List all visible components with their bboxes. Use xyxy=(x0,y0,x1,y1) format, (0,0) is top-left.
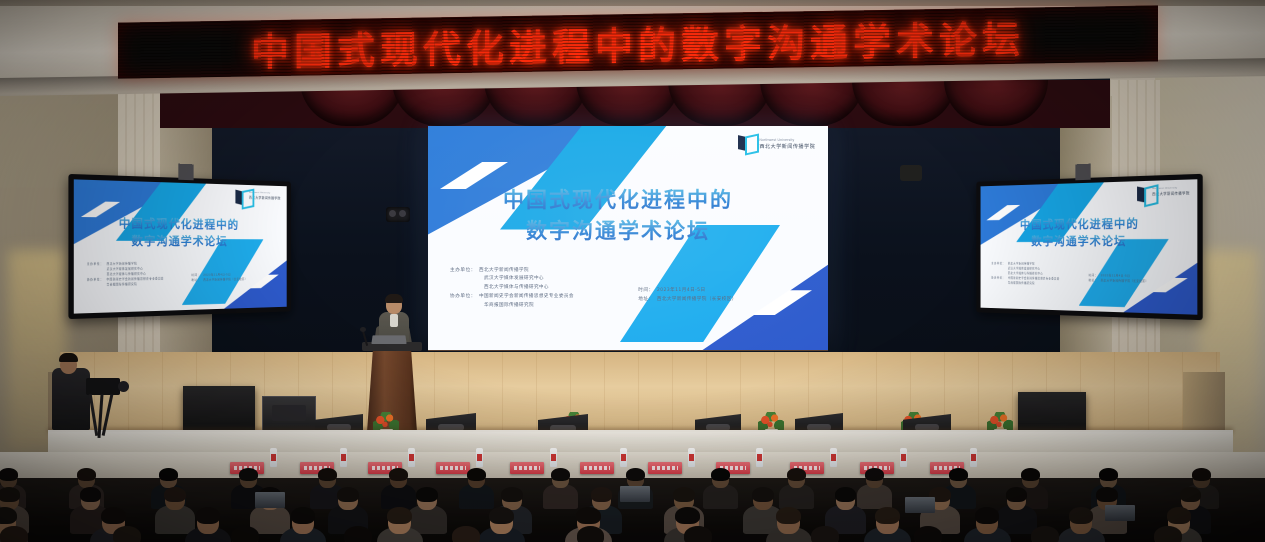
audience-member-hair xyxy=(875,507,900,524)
host-item: 武汉大学媒体发展研究中心 xyxy=(484,275,544,284)
date-value: 2023年11月4日-5日 xyxy=(657,287,706,296)
side-light-fixture xyxy=(900,165,922,181)
name-placard xyxy=(436,462,470,474)
audience-member-hair xyxy=(1021,468,1040,481)
slide-title-line1: 中国式现代化进程中的 xyxy=(981,215,1186,234)
co-host-item: 华商报国际传播研究院 xyxy=(1008,281,1035,286)
slide-title: 中国式现代化进程中的 数字沟通学术论坛 xyxy=(428,185,808,247)
host-item: 西北大学新闻传播学院 xyxy=(479,267,529,276)
place-label: 地址： xyxy=(638,296,654,305)
audience-member-hair xyxy=(787,468,806,481)
name-placard xyxy=(580,462,614,474)
audience-member-hair xyxy=(344,526,372,542)
audience-member-hair xyxy=(711,468,730,481)
audience-laptop xyxy=(1105,505,1135,521)
audience-member-hair xyxy=(1031,526,1059,542)
name-placard xyxy=(648,462,682,474)
audience-member-hair xyxy=(865,468,884,481)
audience-member-hair xyxy=(389,468,408,481)
audience-member-hair xyxy=(591,487,613,502)
audience-member-hair xyxy=(196,507,221,524)
audience-laptop xyxy=(255,492,285,508)
presentation-slide: Northwest University 西北大学新闻传播学院 中国式现代化进程… xyxy=(74,179,287,313)
audience-member-hair xyxy=(626,468,645,481)
audience-member-hair xyxy=(239,468,258,481)
place-value: 西北大学新闻传播学院（长安校区） xyxy=(203,278,247,284)
audience-member-hair xyxy=(0,507,17,524)
audience-member-hair xyxy=(577,526,605,542)
water-bottle xyxy=(408,448,415,467)
place-value: 西北大学新闻传播学院（长安校区） xyxy=(657,296,737,305)
name-placard xyxy=(510,462,544,474)
date-label: 时间： xyxy=(638,287,654,296)
audience-member-hair xyxy=(0,468,18,481)
host-item: 西北大学媒体与传播研究中心 xyxy=(484,284,549,293)
host-label: 主办单位： xyxy=(991,262,1005,267)
audience-member-hair xyxy=(673,487,695,502)
audience-member-hair xyxy=(1180,487,1202,502)
audience-member-hair xyxy=(1099,468,1118,481)
co-host-label: 协办单位： xyxy=(991,276,1005,281)
audience-member-hair xyxy=(387,507,412,524)
audience-member-hair xyxy=(752,487,774,502)
videographer-body xyxy=(52,368,90,430)
water-bottle xyxy=(620,448,627,467)
audience-member-hair xyxy=(1069,507,1094,524)
stage-amp-box xyxy=(183,386,255,434)
logo-english-name: Northwest University xyxy=(759,138,815,142)
co-host-label: 协办单位： xyxy=(87,278,104,283)
audience-member-hair xyxy=(0,526,28,542)
audience-member-hair xyxy=(811,526,839,542)
audience-laptop xyxy=(905,497,935,513)
ceiling-upper-band xyxy=(0,0,1265,6)
audience-member-hair xyxy=(1167,507,1192,524)
water-bottle xyxy=(900,448,907,467)
audience-member-hair xyxy=(1154,526,1182,542)
ceiling-speaker-icon xyxy=(386,207,410,222)
presentation-slide: Northwest University 西北大学新闻传播学院 中国式现代化进程… xyxy=(428,126,828,351)
water-bottle xyxy=(688,448,695,467)
audience-member-hair xyxy=(501,487,523,502)
co-host-item: 华商报国际传播研究院 xyxy=(107,283,138,289)
water-bottle xyxy=(970,448,977,467)
audience-member-hair xyxy=(318,468,337,481)
slide-title-line2: 数字沟通学术论坛 xyxy=(74,232,277,250)
audience-member-hair xyxy=(80,487,102,502)
place-label: 地址： xyxy=(1089,279,1098,284)
main-projection-screen: Northwest University 西北大学新闻传播学院 中国式现代化进程… xyxy=(428,126,828,351)
lectern-laptop xyxy=(371,335,406,344)
audience-member-hair xyxy=(914,526,942,542)
audience-member-hair xyxy=(776,507,801,524)
slide-meta-block: 主办单位： 西北大学新闻传播学院 武汉大学媒体发展研究中心 西北大学媒体与传播研… xyxy=(991,262,1187,290)
co-host-item: 中国新闻史学会新闻传播思想史专业委员会 xyxy=(479,293,574,302)
audience-member-hair xyxy=(337,487,359,502)
right-wall-monitor: Northwest University 西北大学新闻传播学院 中国式现代化进程… xyxy=(976,174,1202,320)
audience-member-hair xyxy=(949,468,968,481)
water-bottle xyxy=(270,448,277,467)
water-bottle xyxy=(830,448,837,467)
host-label: 主办单位： xyxy=(450,267,476,276)
audience-member-hair xyxy=(576,507,601,524)
logo-chinese-name: 西北大学新闻传播学院 xyxy=(759,143,815,150)
presenter-shirt xyxy=(390,314,398,327)
stage-right-step xyxy=(1183,372,1225,434)
slide-title: 中国式现代化进程中的 数字沟通学术论坛 xyxy=(74,214,277,250)
university-logo: Northwest University 西北大学新闻传播学院 xyxy=(1137,185,1190,198)
university-logo: Northwest University 西北大学新闻传播学院 xyxy=(235,190,280,202)
left-wall-monitor: Northwest University 西北大学新闻传播学院 中国式现代化进程… xyxy=(68,174,291,319)
audience-member-hair xyxy=(231,526,259,542)
cube-logo-icon xyxy=(235,190,245,201)
audience-member-hair xyxy=(975,507,1000,524)
audience-member-hair xyxy=(684,526,712,542)
slide-title-line1: 中国式现代化进程中的 xyxy=(74,214,277,233)
audience-member-hair xyxy=(1006,487,1028,502)
audience-member-hair xyxy=(0,487,20,502)
microphone-icon xyxy=(360,327,366,332)
slide-title: 中国式现代化进程中的 数字沟通学术论坛 xyxy=(981,215,1186,251)
water-bottle xyxy=(550,448,557,467)
slide-meta-block: 主办单位： 西北大学新闻传播学院 武汉大学媒体发展研究中心 西北大学媒体与传播研… xyxy=(450,267,812,311)
auditorium-scene: Northwest University 西北大学新闻传播学院 中国式现代化进程… xyxy=(0,0,1265,542)
audience-member-hair xyxy=(489,507,514,524)
monitor-mount xyxy=(1075,164,1090,181)
audience-member-hair xyxy=(291,507,316,524)
video-camera-icon xyxy=(86,378,120,395)
slide-title-line2: 数字沟通学术论坛 xyxy=(428,216,808,247)
audience-member-hair xyxy=(1192,468,1211,481)
cube-logo-icon xyxy=(738,135,755,152)
audience-member-hair xyxy=(835,487,857,502)
water-bottle xyxy=(476,448,483,467)
university-logo: Northwest University 西北大学新闻传播学院 xyxy=(738,135,815,152)
host-label: 主办单位： xyxy=(87,263,104,268)
slide-title-line1: 中国式现代化进程中的 xyxy=(428,185,808,216)
audience-member-hair xyxy=(1096,487,1118,502)
monitor-mount xyxy=(178,164,193,181)
audience-member-hair xyxy=(467,468,486,481)
camera-lens-icon xyxy=(118,381,129,392)
audience-member-hair xyxy=(113,526,141,542)
audience-member-hair xyxy=(77,468,96,481)
co-host-label: 协办单位： xyxy=(450,293,476,302)
cube-logo-icon xyxy=(1137,186,1148,198)
water-bottle xyxy=(340,448,347,467)
audience-member-hair xyxy=(164,487,186,502)
audience-member-hair xyxy=(452,526,480,542)
slide-meta-block: 主办单位： 西北大学新闻传播学院 武汉大学媒体发展研究中心 西北大学媒体与传播研… xyxy=(87,262,279,289)
place-value: 西北大学新闻传播学院（长安校区） xyxy=(1101,280,1149,286)
audience-member-hair xyxy=(101,507,126,524)
audience-member-hair xyxy=(675,507,700,524)
audience-member-hair xyxy=(159,468,178,481)
slide-title-line2: 数字沟通学术论坛 xyxy=(981,233,1186,251)
videographer-hair xyxy=(59,353,78,362)
audience-member-hair xyxy=(551,468,570,481)
co-host-item: 华商报国际传播研究院 xyxy=(484,302,534,311)
presentation-slide: Northwest University 西北大学新闻传播学院 中国式现代化进程… xyxy=(981,179,1198,314)
water-bottle xyxy=(756,448,763,467)
place-label: 地址： xyxy=(191,278,200,283)
audience-member-hair xyxy=(416,487,438,502)
presenter-hair xyxy=(385,294,403,303)
audience-laptop xyxy=(620,486,650,502)
